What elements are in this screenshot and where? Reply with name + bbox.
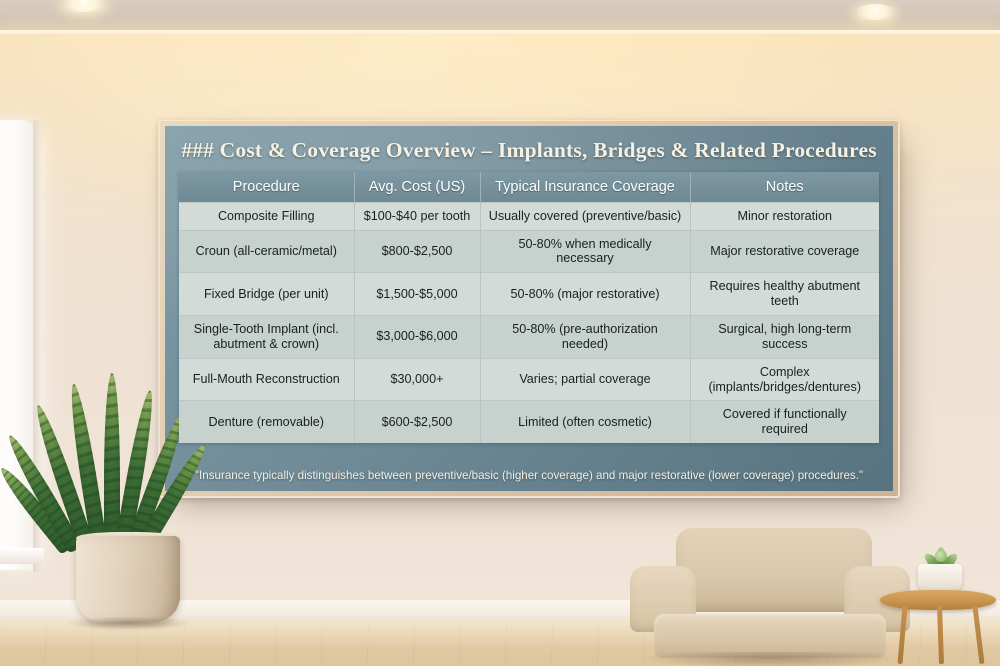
cell-notes: Minor restoration: [690, 202, 879, 230]
poster-frame: ### Cost & Coverage Overview – Implants,…: [160, 121, 898, 496]
column-header-coverage: Typical Insurance Coverage: [480, 172, 690, 203]
cell-procedure: Full-Mouth Reconstruction: [179, 358, 354, 401]
cell-cost: $3,000-$6,000: [354, 316, 480, 359]
poster-footer-quote: "Insurance typically distinguishes betwe…: [179, 461, 879, 483]
table-row: Composite Filling $100-$40 per tooth Usu…: [179, 202, 879, 230]
cell-coverage: Limited (often cosmetic): [480, 401, 690, 443]
cell-cost: $800-$2,500: [354, 230, 480, 273]
plant-pot: [76, 536, 180, 622]
cell-procedure: Composite Filling: [179, 202, 354, 230]
table-row: Single-Tooth Implant (incl. abutment & c…: [179, 316, 879, 359]
side-table-leg: [897, 606, 907, 664]
cell-notes: Surgical, high long-term success: [690, 316, 879, 359]
cost-coverage-table: Procedure Avg. Cost (US) Typical Insuran…: [179, 172, 879, 443]
table-row: Full-Mouth Reconstruction $30,000+ Varie…: [179, 358, 879, 401]
side-table: [880, 566, 1000, 666]
cell-cost: $30,000+: [354, 358, 480, 401]
poster-board: ### Cost & Coverage Overview – Implants,…: [165, 126, 893, 491]
table-row: Fixed Bridge (per unit) $1,500-$5,000 50…: [179, 273, 879, 316]
column-header-procedure: Procedure: [179, 172, 354, 203]
cell-notes: Major restorative coverage: [690, 230, 879, 273]
cell-coverage: 50-80% (pre-authorization needed): [480, 316, 690, 359]
cell-coverage: 50-80% when medically necessary: [480, 230, 690, 273]
cell-notes: Complex (implants/bridges/dentures): [690, 358, 879, 401]
ceiling: [0, 0, 1000, 33]
waiting-room-scene: ### Cost & Coverage Overview – Implants,…: [0, 0, 1000, 666]
cell-cost: $600-$2,500: [354, 401, 480, 443]
armchair-backrest: [676, 528, 872, 612]
table-row: Denture (removable) $600-$2,500 Limited …: [179, 401, 879, 443]
snake-plant: [38, 398, 198, 628]
poster-title: ### Cost & Coverage Overview – Implants,…: [179, 138, 879, 163]
armchair-floor-shadow: [642, 652, 898, 666]
cell-coverage: Varies; partial coverage: [480, 358, 690, 401]
cell-coverage: Usually covered (preventive/basic): [480, 202, 690, 230]
recessed-downlight-icon: [855, 4, 895, 20]
cell-procedure: Denture (removable): [179, 401, 354, 443]
cell-notes: Requires healthy abutment teeth: [690, 273, 879, 316]
column-header-notes: Notes: [690, 172, 879, 203]
table-row: Croun (all-ceramic/metal) $800-$2,500 50…: [179, 230, 879, 273]
column-header-cost: Avg. Cost (US): [354, 172, 480, 203]
plant-floor-shadow: [64, 616, 194, 630]
table-header: Procedure Avg. Cost (US) Typical Insuran…: [179, 172, 879, 203]
table-body: Composite Filling $100-$40 per tooth Usu…: [179, 202, 879, 443]
cell-procedure: Fixed Bridge (per unit): [179, 273, 354, 316]
armchair: [630, 528, 910, 666]
cell-procedure: Single-Tooth Implant (incl. abutment & c…: [179, 316, 354, 359]
cell-cost: $100-$40 per tooth: [354, 202, 480, 230]
side-table-leg: [972, 606, 984, 664]
cell-coverage: 50-80% (major restorative): [480, 273, 690, 316]
cell-procedure: Croun (all-ceramic/metal): [179, 230, 354, 273]
succulent-center: [935, 550, 947, 562]
cell-cost: $1,500-$5,000: [354, 273, 480, 316]
side-table-leg: [937, 606, 944, 664]
table-header-row: Procedure Avg. Cost (US) Typical Insuran…: [179, 172, 879, 203]
cell-notes: Covered if functionally required: [690, 401, 879, 443]
